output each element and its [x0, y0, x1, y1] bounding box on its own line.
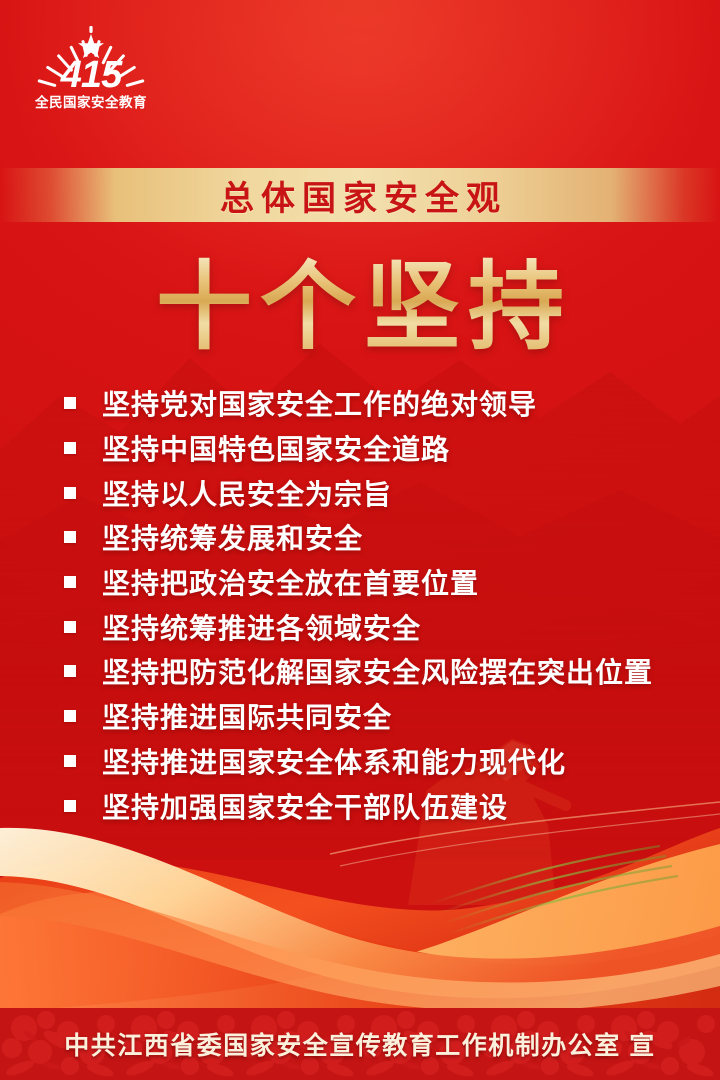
- list-item: 坚持把政治安全放在首要位置: [64, 560, 680, 605]
- list-item-label: 坚持以人民安全为宗旨: [102, 473, 392, 513]
- list-item-label: 坚持把政治安全放在首要位置: [102, 562, 479, 602]
- list-item-label: 坚持推进国际共同安全: [102, 696, 392, 736]
- headline: 十个坚持: [0, 238, 720, 358]
- list-item: 坚持统筹发展和安全: [64, 515, 680, 560]
- bullet-square-icon: [64, 531, 76, 543]
- footer-band: 中共江西省委国家安全宣传教育工作机制办公室 宣: [0, 1008, 720, 1080]
- list-item: 坚持以人民安全为宗旨: [64, 470, 680, 515]
- list-item: 坚持统筹推进各领域安全: [64, 604, 680, 649]
- banner-title: 总体国家安全观: [213, 171, 507, 220]
- list-item-label: 坚持把防范化解国家安全风险摆在突出位置: [102, 651, 653, 691]
- list-item-label: 坚持中国特色国家安全道路: [102, 428, 450, 468]
- list-item-label: 坚持加强国家安全干部队伍建设: [102, 786, 508, 826]
- list-item: 坚持党对国家安全工作的绝对领导: [64, 381, 680, 426]
- bullet-square-icon: [64, 710, 76, 722]
- svg-text:全民国家安全教育: 全民国家安全教育: [34, 94, 147, 110]
- bullet-square-icon: [64, 621, 76, 633]
- list-item: 坚持推进国际共同安全: [64, 694, 680, 739]
- bullet-square-icon: [64, 442, 76, 454]
- svg-text:415: 415: [60, 54, 123, 96]
- footer-label: 中共江西省委国家安全宣传教育工作机制办公室 宣: [64, 1026, 655, 1062]
- list-item-label: 坚持统筹发展和安全: [102, 517, 363, 557]
- list-item: 坚持把防范化解国家安全风险摆在突出位置: [64, 649, 680, 694]
- bullet-square-icon: [64, 576, 76, 588]
- bullet-square-icon: [64, 665, 76, 677]
- list-item-label: 坚持统筹推进各领域安全: [102, 607, 421, 647]
- list-item: 坚持加强国家安全干部队伍建设: [64, 783, 680, 828]
- bullet-square-icon: [64, 397, 76, 409]
- slogan-banner: 总体国家安全观: [0, 168, 720, 222]
- list-item: 坚持中国特色国家安全道路: [64, 426, 680, 471]
- list-item-label: 坚持党对国家安全工作的绝对领导: [102, 383, 537, 423]
- page-title: 十个坚持: [148, 229, 572, 368]
- national-security-education-day-logo-icon: 415 全民国家安全教育: [26, 24, 156, 116]
- bullet-square-icon: [64, 487, 76, 499]
- list-item: 坚持推进国家安全体系和能力现代化: [64, 739, 680, 784]
- list-item-label: 坚持推进国家安全体系和能力现代化: [102, 741, 566, 781]
- poster-root: 415 全民国家安全教育 总体国家安全观 十个坚持 坚持党对国家安全工作的绝对领…: [0, 0, 720, 1080]
- principles-list: 坚持党对国家安全工作的绝对领导 坚持中国特色国家安全道路 坚持以人民安全为宗旨 …: [64, 381, 680, 828]
- bullet-square-icon: [64, 800, 76, 812]
- bullet-square-icon: [64, 755, 76, 767]
